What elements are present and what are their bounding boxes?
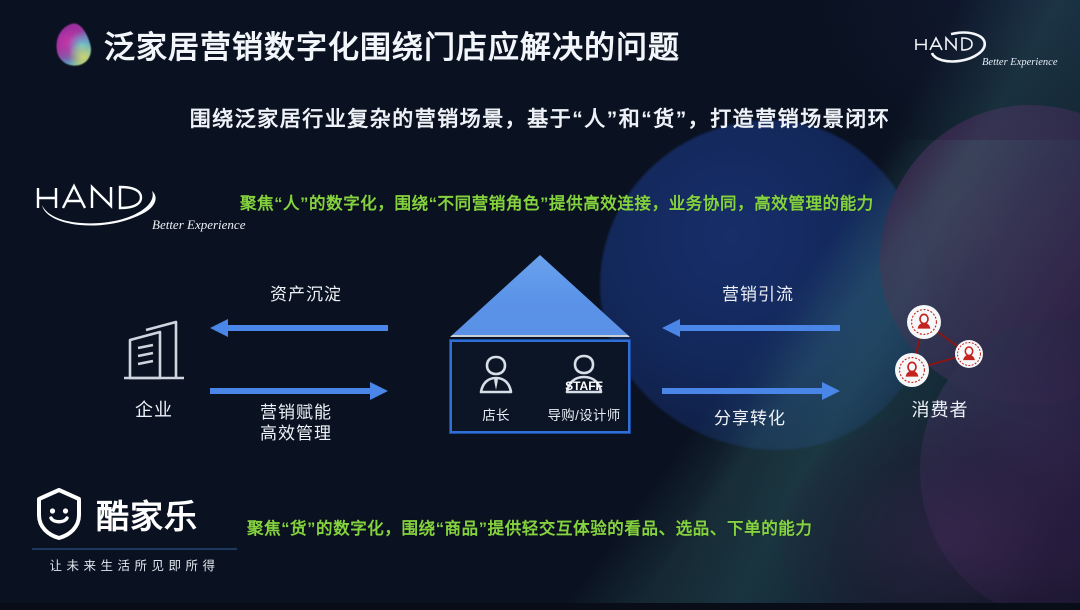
person-staff-icon: STAFF bbox=[546, 350, 622, 398]
consumer-badge-3 bbox=[895, 353, 929, 387]
bottom-strip bbox=[0, 603, 1080, 610]
arrow-shaft bbox=[228, 325, 388, 331]
consumer-network-icon bbox=[884, 298, 994, 394]
arrow-shaft bbox=[680, 325, 840, 331]
hand-swoosh-icon bbox=[42, 191, 156, 226]
role-guide-designer-label: 导购/设计师 bbox=[546, 404, 622, 424]
hand-logo-left: Better Experience bbox=[28, 178, 228, 242]
arrow-label-marketing-traffic: 营销引流 bbox=[648, 284, 868, 305]
hand-logo-left-tagline: Better Experience bbox=[152, 217, 246, 232]
kujiale-logo-row: 酷家乐 bbox=[32, 487, 237, 541]
store-ecosystem-diagram: 企业 资产沉淀 营销赋能 高效管理 bbox=[0, 250, 1080, 460]
house-roof-icon bbox=[450, 255, 630, 337]
arrow-label-asset-accumulation: 资产沉淀 bbox=[196, 284, 416, 305]
people-digitalization-text: 聚焦“人”的数字化，围绕“不同营销角色”提供高效连接，业务协同，高效管理的能力 bbox=[240, 190, 874, 214]
hand-logo-mark-icon: Better Experience bbox=[910, 30, 1040, 74]
kujiale-tagline: 让未来生活所见即所得 bbox=[32, 555, 237, 574]
node-store-house: 店长 STAFF 导购/设计师 bbox=[450, 255, 630, 433]
node-consumer: 消费者 bbox=[884, 298, 996, 422]
kujiale-divider bbox=[32, 548, 237, 550]
kujiale-logo: 酷家乐 让未来生活所见即所得 bbox=[32, 487, 237, 574]
store-roles-box: 店长 STAFF 导购/设计师 bbox=[450, 340, 630, 433]
kujiale-smile-shield-icon bbox=[32, 487, 86, 541]
hand-logo-mark-large-icon: Better Experience bbox=[28, 178, 228, 242]
arrow-shaft bbox=[210, 388, 370, 394]
role-store-manager-label: 店长 bbox=[458, 404, 534, 424]
page-subtitle: 围绕泛家居行业复杂的营销场景，基于“人”和“货”，打造营销场景闭环 bbox=[0, 103, 1080, 133]
slide-canvas: 泛家居营销数字化围绕门店应解决的问题 Better Experience 围绕泛… bbox=[0, 0, 1080, 610]
arrow-label-share-conversion: 分享转化 bbox=[640, 408, 860, 429]
arrow-shaft bbox=[662, 388, 822, 394]
hand-logo-tagline: Better Experience bbox=[982, 57, 1058, 68]
kujiale-wordmark: 酷家乐 bbox=[96, 490, 198, 538]
page-title: 泛家居营销数字化围绕门店应解决的问题 bbox=[104, 22, 680, 67]
gradient-leaf-icon bbox=[52, 20, 94, 68]
consumer-badge-1 bbox=[907, 305, 941, 339]
consumer-badge-2 bbox=[955, 340, 983, 368]
arrow-label-marketing-empowerment: 营销赋能 高效管理 bbox=[186, 402, 406, 445]
arrow-head-left-icon bbox=[662, 319, 680, 337]
goods-digitalization-text: 聚焦“货”的数字化，围绕“商品”提供轻交互体验的看品、选品、下单的能力 bbox=[247, 515, 813, 539]
node-consumer-label: 消费者 bbox=[884, 396, 996, 422]
arrow-head-right-icon bbox=[822, 382, 840, 400]
arrow-label-line-2: 高效管理 bbox=[186, 423, 406, 444]
role-guide-designer: STAFF 导购/设计师 bbox=[546, 350, 622, 424]
hand-logo-top-right: Better Experience bbox=[910, 30, 1040, 74]
person-manager-tie-icon bbox=[458, 350, 534, 398]
slide-header: 泛家居营销数字化围绕门店应解决的问题 bbox=[56, 22, 680, 67]
staff-badge-text: STAFF bbox=[565, 379, 603, 393]
arrow-head-left-icon bbox=[210, 319, 228, 337]
office-building-icon bbox=[108, 312, 200, 390]
role-store-manager: 店长 bbox=[458, 350, 534, 424]
arrow-head-right-icon bbox=[370, 382, 388, 400]
arrow-label-line-1: 营销赋能 bbox=[186, 402, 406, 423]
